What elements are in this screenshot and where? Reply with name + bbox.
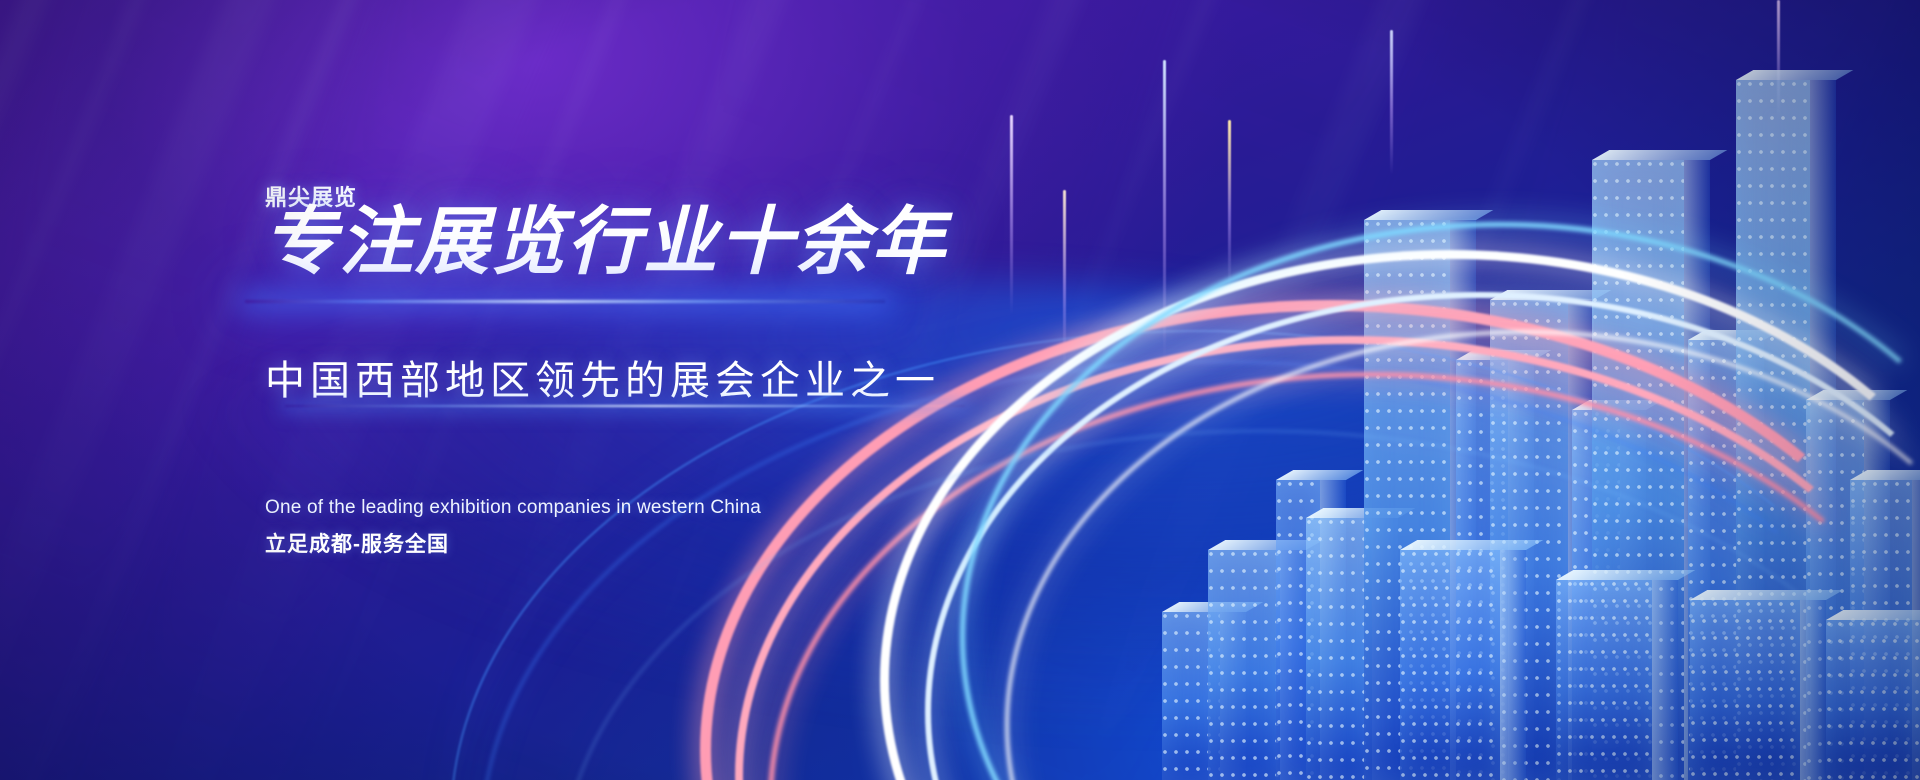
- headline: 专注展览行业十余年: [263, 198, 947, 285]
- headline-glow-bar: [245, 300, 885, 303]
- arc-faint-1: [560, 430, 1920, 780]
- arc-white-1: [880, 250, 1920, 780]
- arc-pink-3: [768, 372, 1920, 780]
- arc-white-3: [1005, 330, 1920, 780]
- hero-banner: 鼎尖展览 专注展览行业十余年 中国西部地区领先的展会企业之一 One of th…: [0, 0, 1920, 780]
- arc-blue-2: [480, 360, 1920, 780]
- tagline-chinese: 立足成都-服务全国: [265, 528, 449, 558]
- tagline-english: One of the leading exhibition companies …: [265, 497, 761, 519]
- arc-cyan-1: [960, 222, 1920, 780]
- subhead-glow-bar: [285, 405, 965, 407]
- subheadline: 中国西部地区领先的展会企业之一: [265, 348, 940, 406]
- arc-white-2: [925, 292, 1920, 780]
